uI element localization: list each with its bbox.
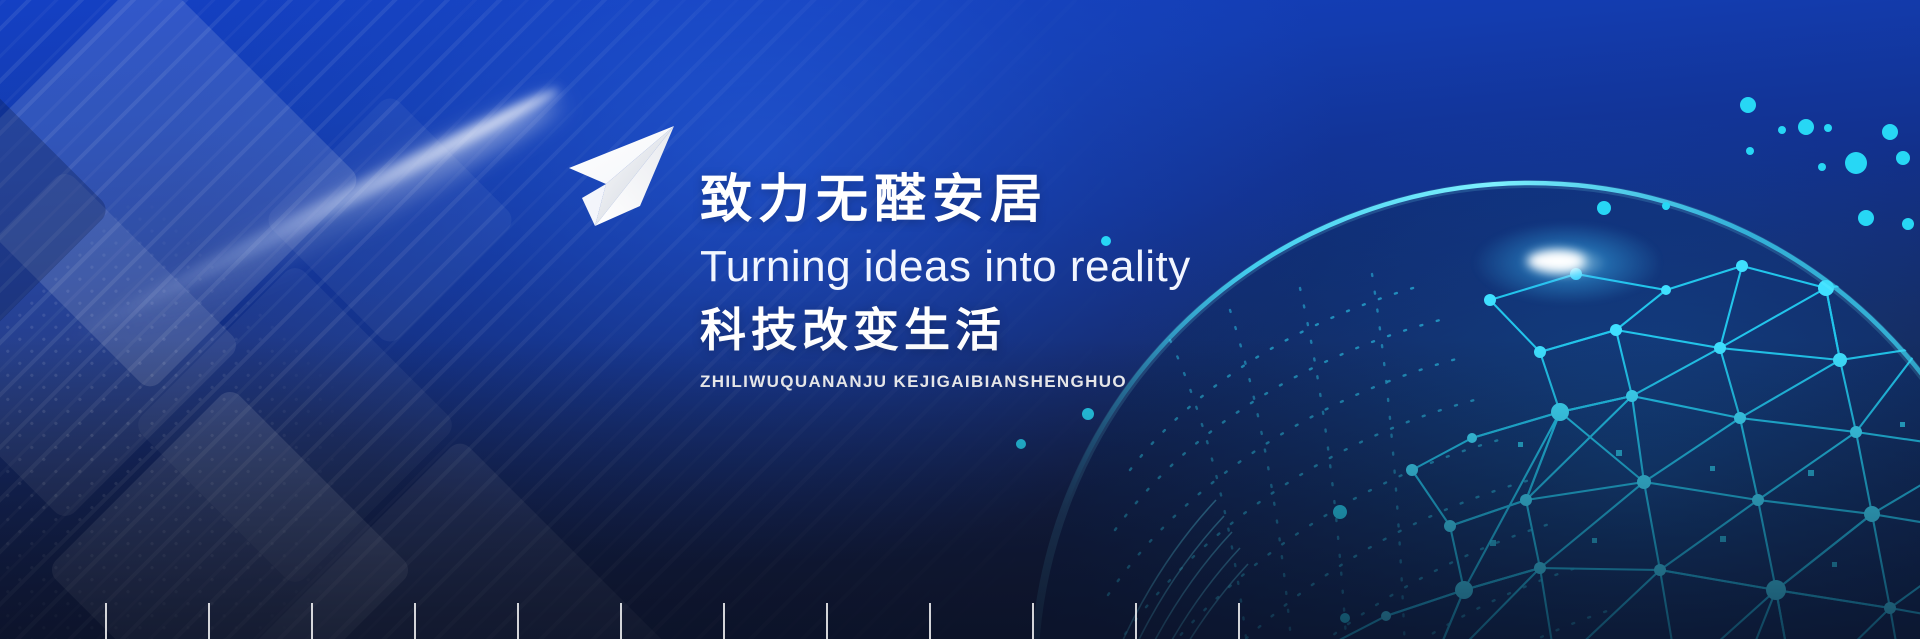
tick-mark: [311, 603, 313, 639]
tick-mark: [1135, 603, 1137, 639]
sparkle-dot: [1845, 152, 1867, 174]
lens-flare-highlight: [1449, 210, 1679, 320]
tick-mark: [929, 603, 931, 639]
sparkle-dot: [1818, 163, 1826, 171]
sparkle-dot: [1740, 97, 1756, 113]
sparkle-dot: [1746, 147, 1754, 155]
sparkle-dot: [1663, 204, 1669, 210]
tagline-english: Turning ideas into reality: [700, 242, 1460, 291]
sparkle-dot: [1882, 124, 1898, 140]
sparkle-dot: [1824, 124, 1832, 132]
banner-text-block: 致力无醛安居 Turning ideas into reality 科技改变生活…: [700, 172, 1460, 392]
sparkle-dot: [1597, 201, 1611, 215]
pinyin-caption: ZHILIWUQUANANJU KEJIGAIBIANSHENGHUO: [700, 372, 1460, 392]
sparkle-dot: [1896, 151, 1910, 165]
decor-square: [263, 93, 518, 348]
tick-mark: [1238, 603, 1240, 639]
sparkle-dot: [1333, 505, 1347, 519]
headline-chinese: 致力无醛安居: [700, 172, 1460, 228]
hero-banner: 致力无醛安居 Turning ideas into reality 科技改变生活…: [0, 0, 1920, 639]
sparkle-dot: [1798, 119, 1814, 135]
subheadline-chinese: 科技改变生活: [700, 305, 1460, 356]
sparkle-dot: [1778, 126, 1786, 134]
tick-mark: [517, 603, 519, 639]
sparkle-dot: [1902, 218, 1914, 230]
tick-mark: [723, 603, 725, 639]
sparkle-dot: [1016, 439, 1026, 449]
sparkle-dot: [1340, 613, 1350, 623]
paper-plane-icon: [548, 118, 688, 258]
sparkle-dot: [1858, 210, 1874, 226]
sparkle-dot: [1082, 408, 1094, 420]
tick-mark: [1032, 603, 1034, 639]
dotted-diamond-grid: [0, 183, 437, 639]
tick-mark: [826, 603, 828, 639]
tick-mark: [620, 603, 622, 639]
sparkle-dot: [1662, 202, 1670, 210]
tick-mark: [414, 603, 416, 639]
